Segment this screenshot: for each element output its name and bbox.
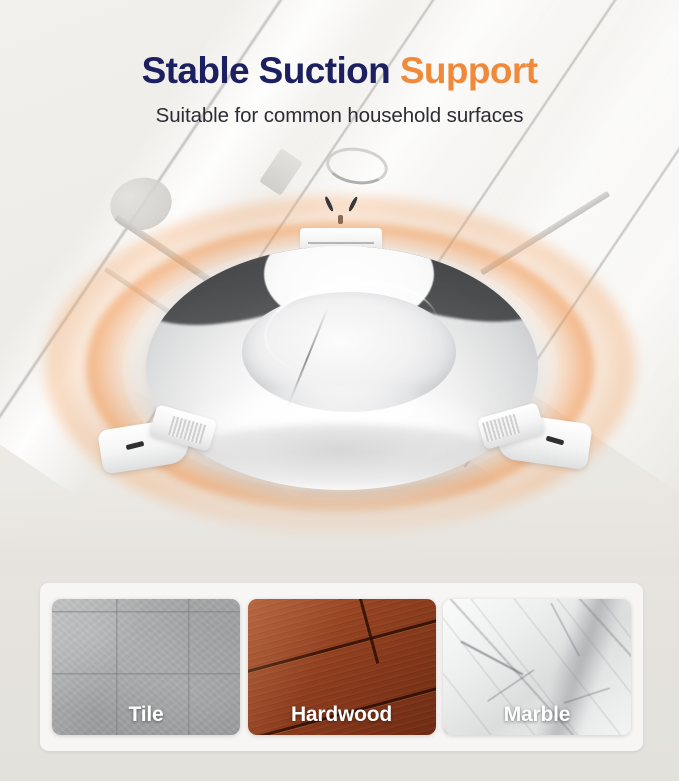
surface-label-tile: Tile [52, 703, 240, 727]
wing-marking-icon [325, 196, 357, 214]
center-bracket-line [308, 242, 374, 244]
page-subtitle: Suitable for common household surfaces [0, 89, 679, 128]
page-title-main: Stable Suction [142, 50, 400, 91]
hero-bottom-fade [0, 485, 679, 575]
surface-label-hardwood: Hardwood [248, 703, 436, 727]
center-marker-icon [338, 215, 343, 224]
page-title: Stable Suction Support [0, 0, 679, 89]
dome-bottom-shadow [176, 424, 506, 488]
surface-label-marble: Marble [443, 703, 631, 727]
infographic-page: Stable Suction Support Suitable for comm… [0, 0, 679, 781]
surfaces-panel: Tile Hardwood Marble [40, 583, 643, 751]
suction-dome [146, 246, 538, 490]
surface-card-tile: Tile [52, 599, 240, 735]
header-block: Stable Suction Support Suitable for comm… [0, 0, 679, 128]
surface-card-marble: Marble [443, 599, 631, 735]
surface-card-hardwood: Hardwood [248, 599, 436, 735]
page-title-accent: Support [400, 50, 538, 91]
